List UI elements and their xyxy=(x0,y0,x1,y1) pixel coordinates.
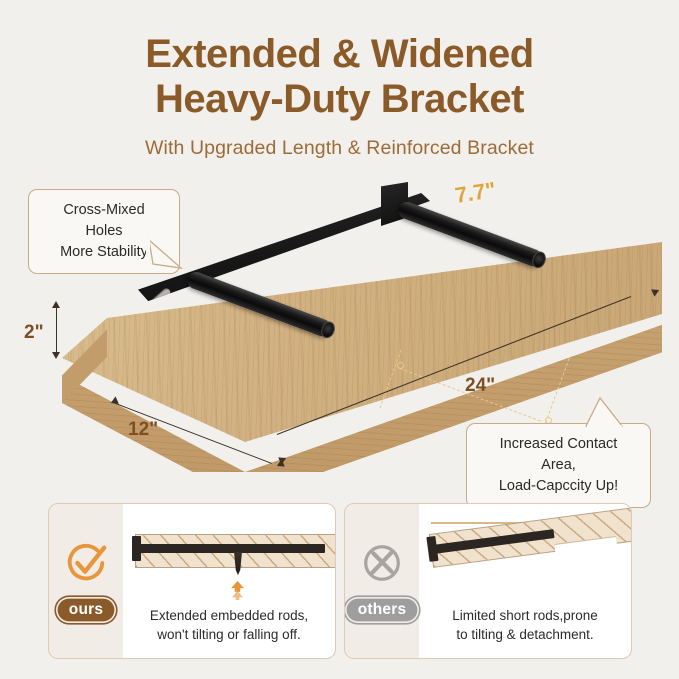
infographic-canvas: Extended & Widened Heavy-Duty Bracket Wi… xyxy=(0,0,679,679)
callout-cross-mixed-holes: Cross-Mixed Holes More Stability xyxy=(28,189,180,274)
comparison-panel-others: others Limited short rods,prone to tilti… xyxy=(344,503,632,659)
dimension-line-thickness xyxy=(56,304,57,356)
screw-icon xyxy=(234,552,242,575)
others-caption-line-1: Limited short rods,prone xyxy=(425,606,625,626)
title-line-1: Extended & Widened xyxy=(145,32,533,76)
ours-icon-column: ours xyxy=(49,504,123,658)
ours-caption-line-2: won't tilting or falling off. xyxy=(129,625,329,645)
page-title: Extended & Widened Heavy-Duty Bracket xyxy=(0,32,679,122)
callout-left-line-1: Cross-Mixed Holes xyxy=(43,200,165,242)
page-subtitle: With Upgraded Length & Reinforced Bracke… xyxy=(0,137,679,160)
badge-others: others xyxy=(345,597,420,623)
others-caption-line-2: to tilting & detachment. xyxy=(425,625,625,645)
badge-ours: ours xyxy=(56,597,116,623)
bracket-slot xyxy=(293,250,315,270)
ours-caption: Extended embedded rods, won't tilting or… xyxy=(129,606,329,645)
dimension-label-width: 24" xyxy=(465,375,495,397)
ours-caption-line-1: Extended embedded rods, xyxy=(129,606,329,626)
comparison-section: ours Extended embedded rods, won't tilti… xyxy=(0,503,679,663)
dimension-label-thickness: 2" xyxy=(24,322,44,344)
embedded-rod-long xyxy=(137,544,325,553)
others-diagram-area: Limited short rods,prone to tilting & de… xyxy=(419,504,631,658)
arrowhead-down xyxy=(52,352,60,359)
arrowhead-up xyxy=(52,301,60,308)
others-icon-column: others xyxy=(345,504,419,658)
callout-right-line-2: Load-Capccity Up! xyxy=(481,476,636,497)
callout-right-line-1: Increased Contact Area, xyxy=(481,434,636,476)
callout-tail xyxy=(582,396,616,426)
dimension-label-depth: 12" xyxy=(128,419,158,441)
x-circle-icon xyxy=(359,540,405,586)
callout-tail xyxy=(147,238,181,268)
rod-tube xyxy=(396,200,544,269)
check-circle-icon xyxy=(63,540,109,586)
support-rod xyxy=(396,200,544,269)
callout-increased-contact-area: Increased Contact Area, Load-Capccity Up… xyxy=(466,423,651,508)
others-caption: Limited short rods,prone to tilting & de… xyxy=(425,606,625,645)
bracket-slot xyxy=(150,287,172,307)
ours-diagram-area: Extended embedded rods, won't tilting or… xyxy=(123,504,335,658)
measure-endpoint xyxy=(397,362,404,369)
title-line-2: Heavy-Duty Bracket xyxy=(0,77,679,122)
upward-force-arrow-icon xyxy=(229,580,246,600)
comparison-panel-ours: ours Extended embedded rods, won't tilti… xyxy=(48,503,336,659)
bracket-slot xyxy=(377,222,399,242)
